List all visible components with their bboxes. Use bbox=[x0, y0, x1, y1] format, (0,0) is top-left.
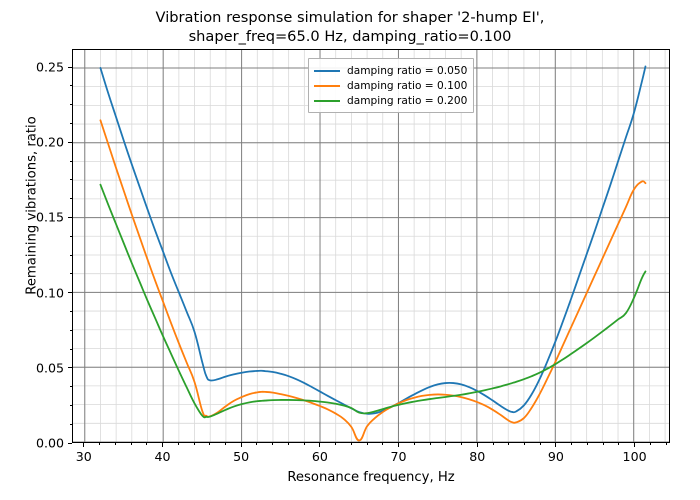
y-minor-tick-mark bbox=[70, 424, 72, 425]
y-tick-label: 0.20 bbox=[36, 135, 64, 150]
x-minor-tick-mark bbox=[225, 443, 226, 445]
x-minor-tick-mark bbox=[634, 443, 635, 445]
x-minor-tick-mark bbox=[99, 443, 100, 445]
legend-item-0[interactable]: damping ratio = 0.050 bbox=[314, 63, 467, 78]
y-tick-label: 0.15 bbox=[36, 210, 64, 225]
y-minor-tick-mark bbox=[70, 85, 72, 86]
x-minor-tick-mark bbox=[272, 443, 273, 445]
legend-label: damping ratio = 0.100 bbox=[347, 80, 467, 92]
y-tick-label: 0.05 bbox=[36, 360, 64, 375]
legend-label: damping ratio = 0.200 bbox=[347, 95, 467, 107]
y-minor-tick-mark bbox=[70, 161, 72, 162]
x-minor-tick-mark bbox=[414, 443, 415, 445]
y-minor-tick-mark bbox=[70, 236, 72, 237]
x-minor-tick-mark bbox=[650, 443, 651, 445]
legend-color-swatch bbox=[314, 70, 340, 72]
y-minor-tick-mark bbox=[70, 273, 72, 274]
y-minor-tick-mark bbox=[70, 67, 72, 68]
chart-legend[interactable]: damping ratio = 0.050damping ratio = 0.1… bbox=[308, 58, 474, 113]
legend-label: damping ratio = 0.050 bbox=[347, 65, 467, 77]
y-axis-tick-labels: 0.000.050.100.150.200.25 bbox=[0, 49, 64, 443]
x-tick-label: 70 bbox=[391, 449, 407, 464]
x-minor-tick-mark bbox=[524, 443, 525, 445]
x-minor-tick-mark bbox=[178, 443, 179, 445]
x-minor-tick-mark bbox=[571, 443, 572, 445]
x-minor-tick-mark bbox=[430, 443, 431, 445]
x-minor-tick-mark bbox=[351, 443, 352, 445]
y-minor-tick-mark bbox=[70, 443, 72, 444]
x-minor-tick-mark bbox=[115, 443, 116, 445]
x-minor-tick-mark bbox=[382, 443, 383, 445]
x-minor-tick-mark bbox=[256, 443, 257, 445]
x-axis-tick-labels: 30405060708090100 bbox=[72, 449, 670, 469]
series-line-0 bbox=[100, 66, 645, 413]
legend-item-2[interactable]: damping ratio = 0.200 bbox=[314, 93, 467, 108]
y-tick-label: 0.00 bbox=[36, 436, 64, 451]
x-minor-tick-mark bbox=[555, 443, 556, 445]
series-line-1 bbox=[100, 120, 645, 440]
x-axis-label: Resonance frequency, Hz bbox=[72, 470, 670, 485]
y-minor-tick-mark bbox=[70, 255, 72, 256]
y-tick-label: 0.10 bbox=[36, 285, 64, 300]
y-minor-tick-mark bbox=[70, 386, 72, 387]
x-minor-tick-mark bbox=[493, 443, 494, 445]
x-minor-tick-mark bbox=[83, 443, 84, 445]
y-minor-tick-mark bbox=[70, 217, 72, 218]
y-minor-tick-mark bbox=[70, 123, 72, 124]
x-minor-tick-mark bbox=[335, 443, 336, 445]
y-minor-tick-mark bbox=[70, 311, 72, 312]
x-minor-tick-mark bbox=[603, 443, 604, 445]
y-minor-tick-mark bbox=[70, 198, 72, 199]
x-tick-label: 80 bbox=[469, 449, 485, 464]
x-minor-tick-mark bbox=[367, 443, 368, 445]
x-minor-tick-mark bbox=[540, 443, 541, 445]
x-minor-tick-mark bbox=[131, 443, 132, 445]
x-tick-label: 40 bbox=[154, 449, 170, 464]
y-minor-tick-mark bbox=[70, 104, 72, 105]
x-minor-tick-mark bbox=[445, 443, 446, 445]
x-minor-tick-mark bbox=[194, 443, 195, 445]
x-tick-label: 30 bbox=[76, 449, 92, 464]
x-minor-tick-mark bbox=[398, 443, 399, 445]
y-minor-tick-mark bbox=[70, 349, 72, 350]
x-tick-label: 100 bbox=[623, 449, 647, 464]
x-minor-tick-mark bbox=[461, 443, 462, 445]
x-minor-tick-mark bbox=[288, 443, 289, 445]
y-minor-tick-mark bbox=[70, 405, 72, 406]
y-minor-tick-mark bbox=[70, 292, 72, 293]
x-minor-tick-mark bbox=[146, 443, 147, 445]
x-minor-tick-mark bbox=[304, 443, 305, 445]
x-minor-tick-mark bbox=[162, 443, 163, 445]
chart-title: Vibration response simulation for shaper… bbox=[0, 8, 700, 47]
y-minor-tick-mark bbox=[70, 179, 72, 180]
x-tick-label: 90 bbox=[548, 449, 564, 464]
x-minor-tick-mark bbox=[319, 443, 320, 445]
x-tick-label: 60 bbox=[312, 449, 328, 464]
legend-color-swatch bbox=[314, 85, 340, 87]
x-minor-tick-mark bbox=[241, 443, 242, 445]
x-minor-tick-mark bbox=[508, 443, 509, 445]
x-minor-tick-mark bbox=[618, 443, 619, 445]
legend-item-1[interactable]: damping ratio = 0.100 bbox=[314, 78, 467, 93]
y-minor-tick-mark bbox=[70, 330, 72, 331]
x-tick-label: 50 bbox=[233, 449, 249, 464]
legend-color-swatch bbox=[314, 100, 340, 102]
y-tick-label: 0.25 bbox=[36, 60, 64, 75]
y-minor-tick-mark bbox=[70, 367, 72, 368]
chart-figure: Vibration response simulation for shaper… bbox=[0, 0, 700, 500]
y-minor-tick-mark bbox=[70, 142, 72, 143]
x-minor-tick-mark bbox=[477, 443, 478, 445]
x-minor-tick-mark bbox=[666, 443, 667, 445]
x-minor-tick-mark bbox=[209, 443, 210, 445]
x-minor-tick-mark bbox=[587, 443, 588, 445]
